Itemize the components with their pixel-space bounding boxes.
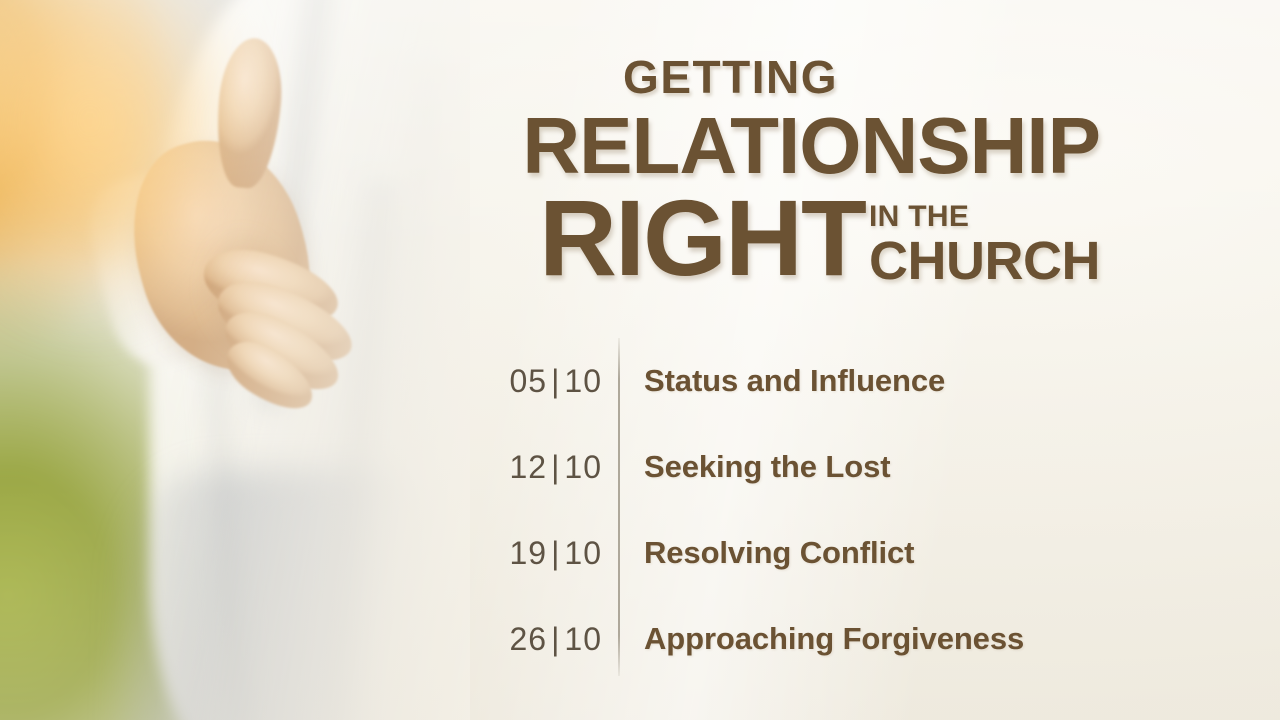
title-line-relationship: RELATIONSHIP xyxy=(420,106,1100,186)
title-line-getting: GETTING xyxy=(420,54,1100,100)
photo-jeans xyxy=(120,470,450,720)
title-line-right: RIGHT xyxy=(539,192,865,285)
schedule-list: 05|10 Status and Influence 12|10 Seeking… xyxy=(430,338,1100,682)
schedule-date-separator: | xyxy=(547,449,564,485)
series-title: GETTING RELATIONSHIP RIGHT IN THE CHURCH xyxy=(420,54,1100,288)
schedule-date-day: 05 xyxy=(510,363,548,399)
schedule-date-month: 10 xyxy=(564,363,602,399)
schedule-row: 26|10 Approaching Forgiveness xyxy=(430,596,1100,682)
title-line-in-the: IN THE xyxy=(869,202,1100,232)
schedule-date-separator: | xyxy=(547,363,564,399)
schedule-date-day: 19 xyxy=(510,535,548,571)
sermon-series-slide: GETTING RELATIONSHIP RIGHT IN THE CHURCH… xyxy=(0,0,1280,720)
outstretched-hand xyxy=(110,20,370,480)
schedule-date-separator: | xyxy=(547,535,564,571)
schedule-topic: Resolving Conflict xyxy=(618,535,914,571)
title-line-church: CHURCH xyxy=(869,234,1100,288)
hand-photo xyxy=(0,0,470,720)
schedule-row: 19|10 Resolving Conflict xyxy=(430,510,1100,596)
schedule-date-month: 10 xyxy=(564,535,602,571)
schedule-row: 05|10 Status and Influence xyxy=(430,338,1100,424)
schedule-date-day: 12 xyxy=(510,449,548,485)
schedule-topic: Status and Influence xyxy=(618,363,945,399)
schedule-topic: Approaching Forgiveness xyxy=(618,621,1024,657)
schedule-row: 12|10 Seeking the Lost xyxy=(430,424,1100,510)
schedule-topic: Seeking the Lost xyxy=(618,449,890,485)
schedule-divider xyxy=(618,338,620,676)
schedule-date-month: 10 xyxy=(564,449,602,485)
schedule-date: 05|10 xyxy=(430,363,618,400)
schedule-date: 19|10 xyxy=(430,535,618,572)
title-inthe-church-group: IN THE CHURCH xyxy=(869,192,1100,288)
schedule-date-separator: | xyxy=(547,621,564,657)
schedule-date-day: 26 xyxy=(510,621,548,657)
schedule-date-month: 10 xyxy=(564,621,602,657)
schedule-date: 12|10 xyxy=(430,449,618,486)
schedule-date: 26|10 xyxy=(430,621,618,658)
title-line-right-row: RIGHT IN THE CHURCH xyxy=(420,192,1100,288)
